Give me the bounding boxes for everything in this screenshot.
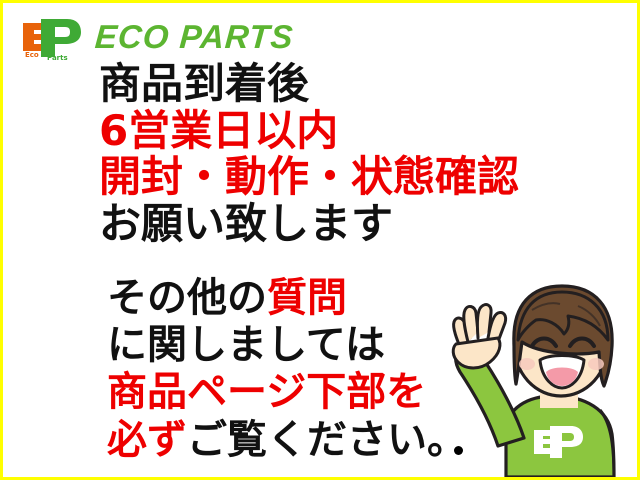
brand-logo: Eco Parts ECO PARTS	[17, 11, 293, 63]
notice-line-3: 開封・動作・状態確認	[99, 154, 569, 201]
notice-line-4: お願い致します	[99, 201, 569, 248]
notice-upper-text: 商品到着後 6営業日以内 開封・動作・状態確認 お願い致します	[99, 61, 569, 247]
eco-parts-logo-icon: Eco Parts	[17, 13, 83, 61]
notice-line-5-prefix: その他の	[107, 275, 267, 321]
notice-line-2: 6営業日以内	[99, 108, 569, 155]
notice-line-8-highlight: 必ず	[107, 417, 187, 463]
eco-parts-notice-banner: Eco Parts ECO PARTS 商品到着後 6営業日以内 開封・動作・状…	[0, 0, 640, 480]
mascot-illustration	[428, 282, 633, 477]
svg-text:Eco: Eco	[25, 51, 39, 59]
notice-line-5-highlight: 質問	[267, 275, 347, 321]
notice-line-1: 商品到着後	[99, 61, 569, 108]
svg-text:Parts: Parts	[47, 54, 68, 61]
brand-wordmark: ECO PARTS	[94, 18, 295, 56]
notice-line-8-suffix: ご覧ください。	[187, 417, 467, 463]
